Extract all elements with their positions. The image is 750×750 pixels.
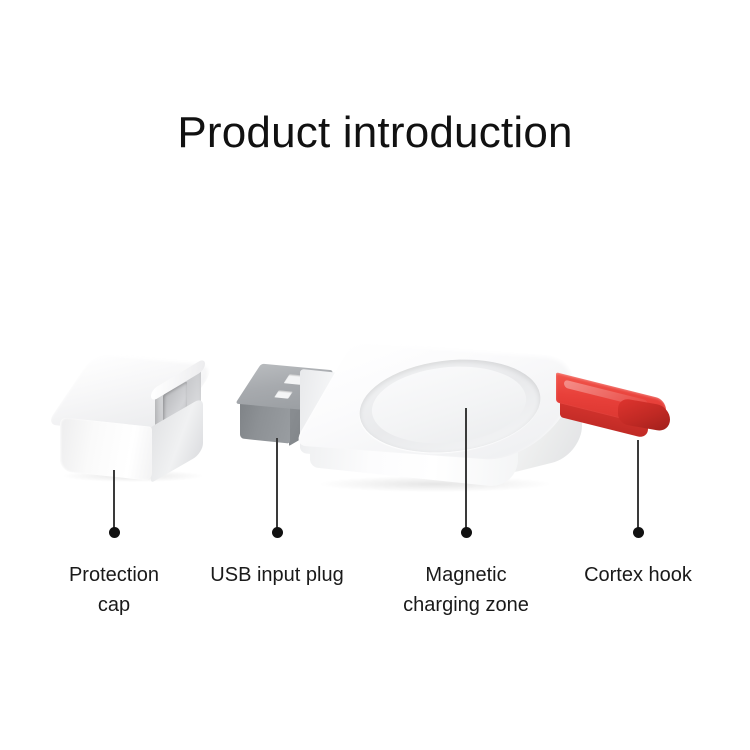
callout-leader-line-protection-cap: [113, 470, 115, 532]
callout-leader-line-magnetic-charging-zone: [465, 408, 467, 532]
product-infographic-page: Product introduction: [0, 0, 750, 750]
callout-label-magnetic-charging-zone: Magnetic charging zone: [386, 560, 546, 620]
protection-cap-part: [55, 350, 235, 500]
callout-label-protection-cap: Protection cap: [34, 560, 194, 620]
callout-dot-magnetic-charging-zone: [461, 527, 472, 538]
charger-body-part: [300, 350, 600, 510]
cortex-hook-part: [556, 380, 686, 450]
callout-label-cortex-hook: Cortex hook: [558, 560, 718, 590]
protection-cap-front-face: [60, 417, 152, 481]
callout-dot-protection-cap: [109, 527, 120, 538]
callout-dot-cortex-hook: [633, 527, 644, 538]
callout-leader-line-cortex-hook: [637, 440, 639, 532]
callout-dot-usb-input-plug: [272, 527, 283, 538]
callout-label-usb-input-plug: USB input plug: [197, 560, 357, 590]
callout-leader-line-usb-input-plug: [276, 438, 278, 532]
page-title: Product introduction: [0, 108, 750, 158]
